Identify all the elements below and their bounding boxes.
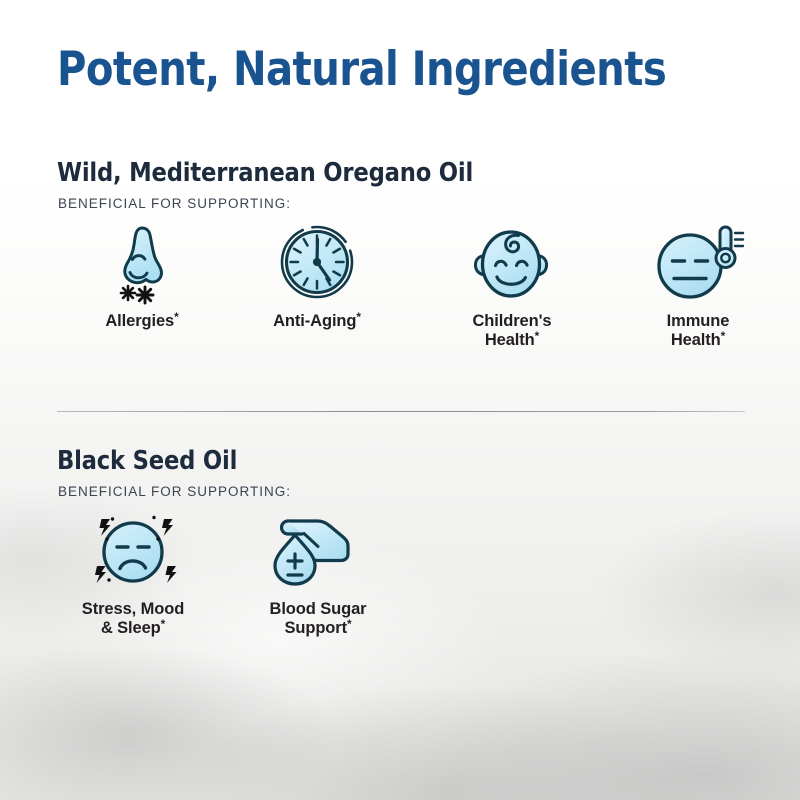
stressed-face-icon: [58, 510, 208, 592]
footnote-asterisk: *: [535, 329, 540, 343]
blood-drop-hand-icon: [243, 510, 393, 592]
infographic-page: Potent, Natural Ingredients Wild, Medite…: [0, 0, 800, 800]
benefit-label-anti-aging: Anti-Aging*: [242, 312, 392, 331]
footnote-asterisk: *: [174, 310, 179, 324]
benefit-label-blood-sugar-support: Blood Sugar Support*: [243, 600, 393, 638]
clock-icon: [242, 222, 392, 304]
benefit-label-immune-health: Immune Health*: [623, 312, 773, 350]
section-heading-black-seed: Black Seed Oil: [57, 448, 237, 474]
section-divider: [57, 411, 745, 412]
baby-face-icon: [437, 222, 587, 304]
benefit-item-stress-mood-sleep: Stress, Mood & Sleep*: [58, 510, 208, 638]
page-title: Potent, Natural Ingredients: [57, 46, 666, 93]
section-subheading-oregano: BENEFICIAL FOR SUPPORTING:: [58, 197, 291, 211]
benefit-list-black-seed: Stress, Mood & Sleep*: [0, 510, 800, 650]
benefit-label-stress-mood-sleep: Stress, Mood & Sleep*: [58, 600, 208, 638]
sick-face-thermometer-icon: [623, 222, 773, 304]
benefit-label-text: Allergies: [105, 312, 174, 330]
benefit-label-text: Anti-Aging: [273, 312, 356, 330]
section-subheading-black-seed: BENEFICIAL FOR SUPPORTING:: [58, 485, 291, 499]
benefit-label-text: Stress, Mood & Sleep: [82, 600, 184, 637]
footnote-asterisk: *: [721, 329, 726, 343]
benefit-item-anti-aging: Anti-Aging*: [242, 222, 392, 331]
footnote-asterisk: *: [161, 617, 166, 631]
nose-pollen-icon: [67, 222, 217, 304]
benefit-label-text: Children's Health: [472, 312, 551, 349]
benefit-item-immune-health: Immune Health*: [623, 222, 773, 350]
benefit-list-oregano: Allergies*: [0, 222, 800, 362]
section-heading-oregano: Wild, Mediterranean Oregano Oil: [57, 160, 473, 186]
benefit-item-blood-sugar-support: Blood Sugar Support*: [243, 510, 393, 638]
benefit-item-childrens-health: Children's Health*: [437, 222, 587, 350]
benefit-item-allergies: Allergies*: [67, 222, 217, 331]
benefit-label-allergies: Allergies*: [67, 312, 217, 331]
footnote-asterisk: *: [347, 617, 352, 631]
footnote-asterisk: *: [356, 310, 361, 324]
benefit-label-childrens-health: Children's Health*: [437, 312, 587, 350]
